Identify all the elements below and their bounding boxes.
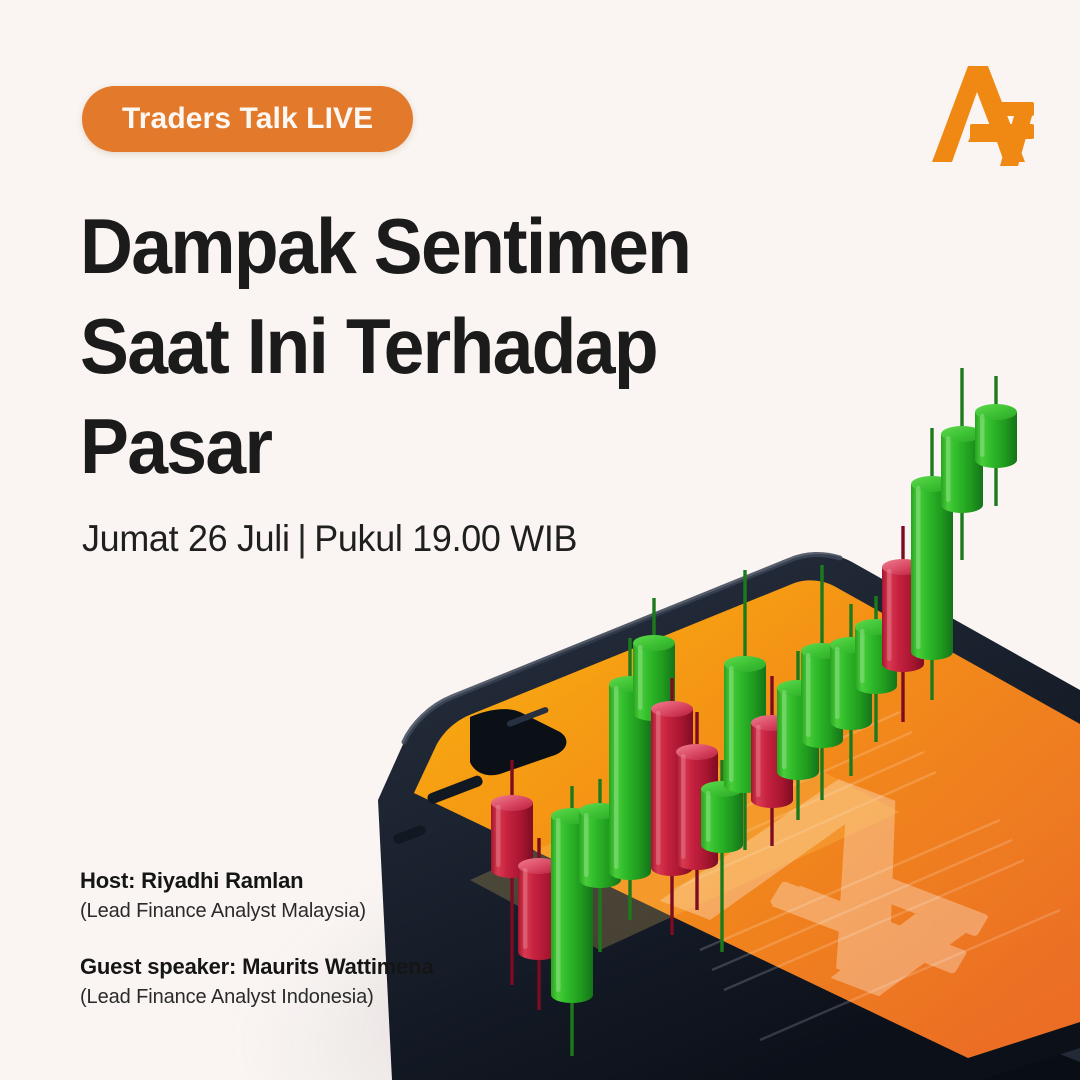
candle-highlight (782, 690, 787, 769)
candle-body (701, 789, 743, 853)
candle-highlight (916, 486, 921, 649)
candle-wick-lower (570, 995, 573, 1056)
candle-wick-upper (570, 786, 573, 816)
phone-notch (470, 709, 566, 775)
candle-highlight (496, 805, 501, 867)
candle-top-cap (609, 676, 651, 692)
candle-top-cap (551, 808, 593, 824)
candle-wick-lower (670, 868, 673, 935)
candle-body (830, 645, 872, 730)
candle-4-up (579, 779, 621, 952)
candle-top-cap (633, 635, 675, 651)
candle-highlight (729, 666, 734, 782)
headline-line-3: Pasar (80, 396, 757, 496)
candle-top-cap (701, 781, 743, 797)
candle-top-cap (724, 656, 766, 672)
candle-wick-upper (510, 760, 513, 803)
candle-top-cap (491, 795, 533, 811)
candle-wick-upper (628, 638, 631, 684)
candle-wick-lower (930, 652, 933, 700)
candle-7-down (651, 678, 693, 935)
live-badge[interactable]: Traders Talk LIVE (82, 86, 413, 152)
phone-rim-highlight (404, 554, 840, 742)
candle-top-cap (975, 404, 1017, 420)
candle-17-up (911, 428, 953, 700)
candle-wick-lower (720, 845, 723, 952)
candle-top-cap (882, 559, 924, 575)
candle-wick-lower (994, 460, 997, 506)
candle-wick-lower (960, 505, 963, 560)
live-badge-label: Traders Talk LIVE (122, 102, 373, 136)
candle-wick-lower (695, 862, 698, 910)
candle-wick-upper (849, 604, 852, 645)
candle-highlight (656, 711, 661, 865)
candle-wick-lower (628, 872, 631, 920)
candle-top-cap (911, 476, 953, 492)
candle-wick-upper (820, 565, 823, 651)
candle-highlight (556, 818, 561, 992)
candle-top-cap (801, 643, 843, 659)
candle-wick-lower (849, 722, 852, 776)
event-time: Pukul 19.00 WIB (314, 518, 577, 559)
candle-wick-upper (994, 376, 997, 412)
host-credit: Host: Riyadhi Ramlan (Lead Finance Analy… (80, 866, 550, 926)
candle-wick-upper (670, 678, 673, 709)
candle-top-cap (830, 637, 872, 653)
candle-body (676, 752, 718, 870)
candle-wick-upper (796, 651, 799, 688)
candle-wick-lower (743, 785, 746, 850)
candle-body (633, 643, 675, 721)
candle-9-up (701, 760, 743, 952)
candle-top-cap (855, 619, 897, 635)
candle-body (724, 664, 766, 793)
candle-wick-upper (598, 779, 601, 811)
candle-highlight (584, 813, 589, 877)
candle-wick-upper (770, 676, 773, 723)
candle-19-up (975, 376, 1017, 506)
host-name: Host: Riyadhi Ramlan (80, 866, 550, 896)
candle-highlight (614, 686, 619, 869)
candle-13-up (801, 565, 843, 800)
candle-highlight (835, 647, 840, 719)
candle-wick-upper (743, 570, 746, 664)
screen-content (470, 712, 1060, 1040)
candle-top-cap (651, 701, 693, 717)
candle-top-cap (579, 803, 621, 819)
octa-a-logo (930, 62, 1036, 166)
candle-highlight (980, 414, 985, 457)
phone-earpiece (506, 706, 549, 727)
candle-5-up (609, 638, 651, 920)
phone-power-button (392, 824, 427, 846)
candle-wick-upper (652, 598, 655, 643)
candle-11-down (751, 676, 793, 846)
candle-body (579, 811, 621, 888)
promo-poster: Traders Talk LIVE Dampak Sentimen Saat I… (0, 0, 1080, 1080)
candle-wick-lower (820, 740, 823, 800)
candle-wick-lower (874, 686, 877, 742)
host-role: (Lead Finance Analyst Malaysia) (80, 896, 550, 926)
candle-14-up (830, 604, 872, 776)
candle-body (855, 627, 897, 694)
candle-body (751, 723, 793, 808)
candle-top-cap (751, 715, 793, 731)
candle-highlight (887, 569, 892, 661)
speaker-credits: Host: Riyadhi Ramlan (Lead Finance Analy… (80, 866, 550, 1012)
candle-wick-lower (901, 664, 904, 722)
candle-body (882, 567, 924, 672)
a-logo-watermark (654, 746, 1027, 1016)
candle-wick-lower (770, 800, 773, 846)
candle-body (911, 484, 953, 660)
candle-highlight (756, 725, 761, 797)
candle-wick-upper (901, 526, 904, 567)
candle-body (651, 709, 693, 876)
phone-volume-button (426, 774, 484, 805)
candle-wick-upper (537, 838, 540, 866)
event-date: Jumat 26 Juli (82, 518, 290, 559)
candle-body (777, 688, 819, 780)
candle-16-down (882, 526, 924, 722)
candle-12-up (777, 651, 819, 820)
datetime-separator: | (290, 518, 315, 559)
candle-highlight (638, 645, 643, 710)
candle-highlight (860, 629, 865, 683)
candle-body (609, 684, 651, 880)
candle-wick-upper (930, 428, 933, 484)
headline-line-1: Dampak Sentimen (80, 196, 757, 296)
candle-body (941, 434, 983, 513)
candle-highlight (806, 653, 811, 737)
candle-top-cap (676, 744, 718, 760)
candle-15-up (855, 596, 897, 742)
guest-role: (Lead Finance Analyst Indonesia) (80, 982, 550, 1012)
candle-wick-lower (652, 713, 655, 760)
candle-highlight (681, 754, 686, 859)
candle-body (975, 412, 1017, 468)
candle-highlight (946, 436, 951, 502)
candle-8-down (676, 712, 718, 910)
screen-line-texture (636, 712, 1060, 1040)
candle-wick-lower (598, 880, 601, 952)
candle-body (551, 816, 593, 1003)
candle-wick-upper (695, 712, 698, 752)
candle-wick-lower (796, 772, 799, 820)
candle-body (801, 651, 843, 748)
candle-wick-upper (960, 368, 963, 434)
candle-wick-upper (720, 760, 723, 789)
guest-credit: Guest speaker: Maurits Wattimena (Lead F… (80, 952, 550, 1012)
candle-highlight (706, 791, 711, 842)
candle-6-up (633, 598, 675, 760)
candle-10-up (724, 570, 766, 850)
event-datetime: Jumat 26 Juli|Pukul 19.00 WIB (82, 518, 577, 560)
candle-top-cap (941, 426, 983, 442)
candle-top-cap (777, 680, 819, 696)
guest-name: Guest speaker: Maurits Wattimena (80, 952, 550, 982)
page-title: Dampak Sentimen Saat Ini Terhadap Pasar (80, 196, 757, 496)
candle-18-up (941, 368, 983, 560)
candle-3-up (551, 786, 593, 1056)
candle-wick-upper (874, 596, 877, 627)
headline-line-2: Saat Ini Terhadap (80, 296, 757, 396)
